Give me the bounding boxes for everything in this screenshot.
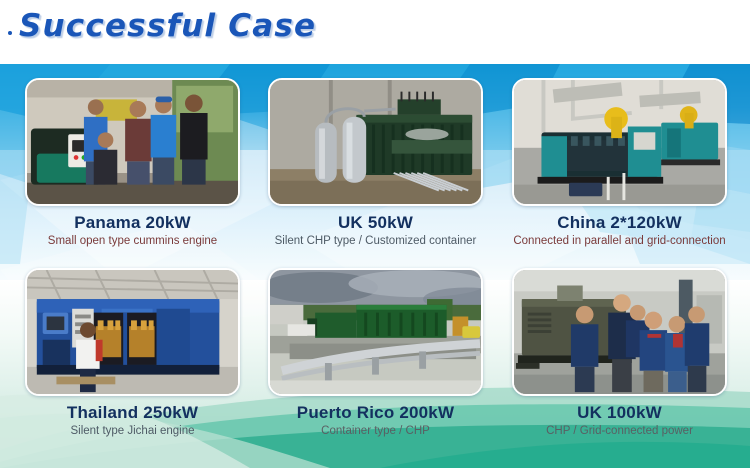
- case-name: Puerto Rico 200kW: [268, 403, 483, 423]
- case-desc: Small open type cummins engine: [25, 235, 240, 247]
- case-desc: Silent CHP type / Customized container: [268, 235, 483, 247]
- case-photo-uk-50kw: [268, 78, 483, 206]
- case-caption-uk-100kw: UK 100kW CHP / Grid-connected power: [512, 396, 727, 437]
- case-caption-panama: Panama 20kW Small open type cummins engi…: [25, 206, 240, 247]
- case-card-panama[interactable]: Panama 20kW Small open type cummins engi…: [25, 78, 240, 247]
- successful-case-banner: Successful Case: [0, 0, 750, 468]
- case-photo-thailand: [25, 268, 240, 396]
- banner-header: Successful Case: [0, 0, 750, 62]
- case-card-puerto-rico[interactable]: Puerto Rico 200kW Container type / CHP: [268, 268, 483, 437]
- case-caption-uk-50kw: UK 50kW Silent CHP type / Customized con…: [268, 206, 483, 247]
- case-name: UK 100kW: [512, 403, 727, 423]
- page-title: Successful Case: [19, 8, 316, 44]
- case-desc: Connected in parallel and grid-connectio…: [512, 235, 727, 247]
- case-name: UK 50kW: [268, 213, 483, 233]
- case-photo-puerto-rico: [268, 268, 483, 396]
- case-grid: Panama 20kW Small open type cummins engi…: [0, 64, 750, 468]
- case-card-uk-50kw[interactable]: UK 50kW Silent CHP type / Customized con…: [268, 78, 483, 247]
- case-desc: Container type / CHP: [268, 425, 483, 437]
- case-caption-china: China 2*120kW Connected in parallel and …: [512, 206, 727, 247]
- case-photo-panama: [25, 78, 240, 206]
- case-card-china[interactable]: China 2*120kW Connected in parallel and …: [512, 78, 727, 247]
- case-card-thailand[interactable]: Thailand 250kW Silent type Jichai engine: [25, 268, 240, 437]
- case-caption-thailand: Thailand 250kW Silent type Jichai engine: [25, 396, 240, 437]
- case-caption-puerto-rico: Puerto Rico 200kW Container type / CHP: [268, 396, 483, 437]
- case-desc: CHP / Grid-connected power: [512, 425, 727, 437]
- case-card-uk-100kw[interactable]: UK 100kW CHP / Grid-connected power: [512, 268, 727, 437]
- dot-bullet-icon: [8, 31, 12, 35]
- case-photo-china: [512, 78, 727, 206]
- case-name: Thailand 250kW: [25, 403, 240, 423]
- case-name: Panama 20kW: [25, 213, 240, 233]
- case-photo-uk-100kw: [512, 268, 727, 396]
- case-desc: Silent type Jichai engine: [25, 425, 240, 437]
- case-name: China 2*120kW: [512, 213, 727, 233]
